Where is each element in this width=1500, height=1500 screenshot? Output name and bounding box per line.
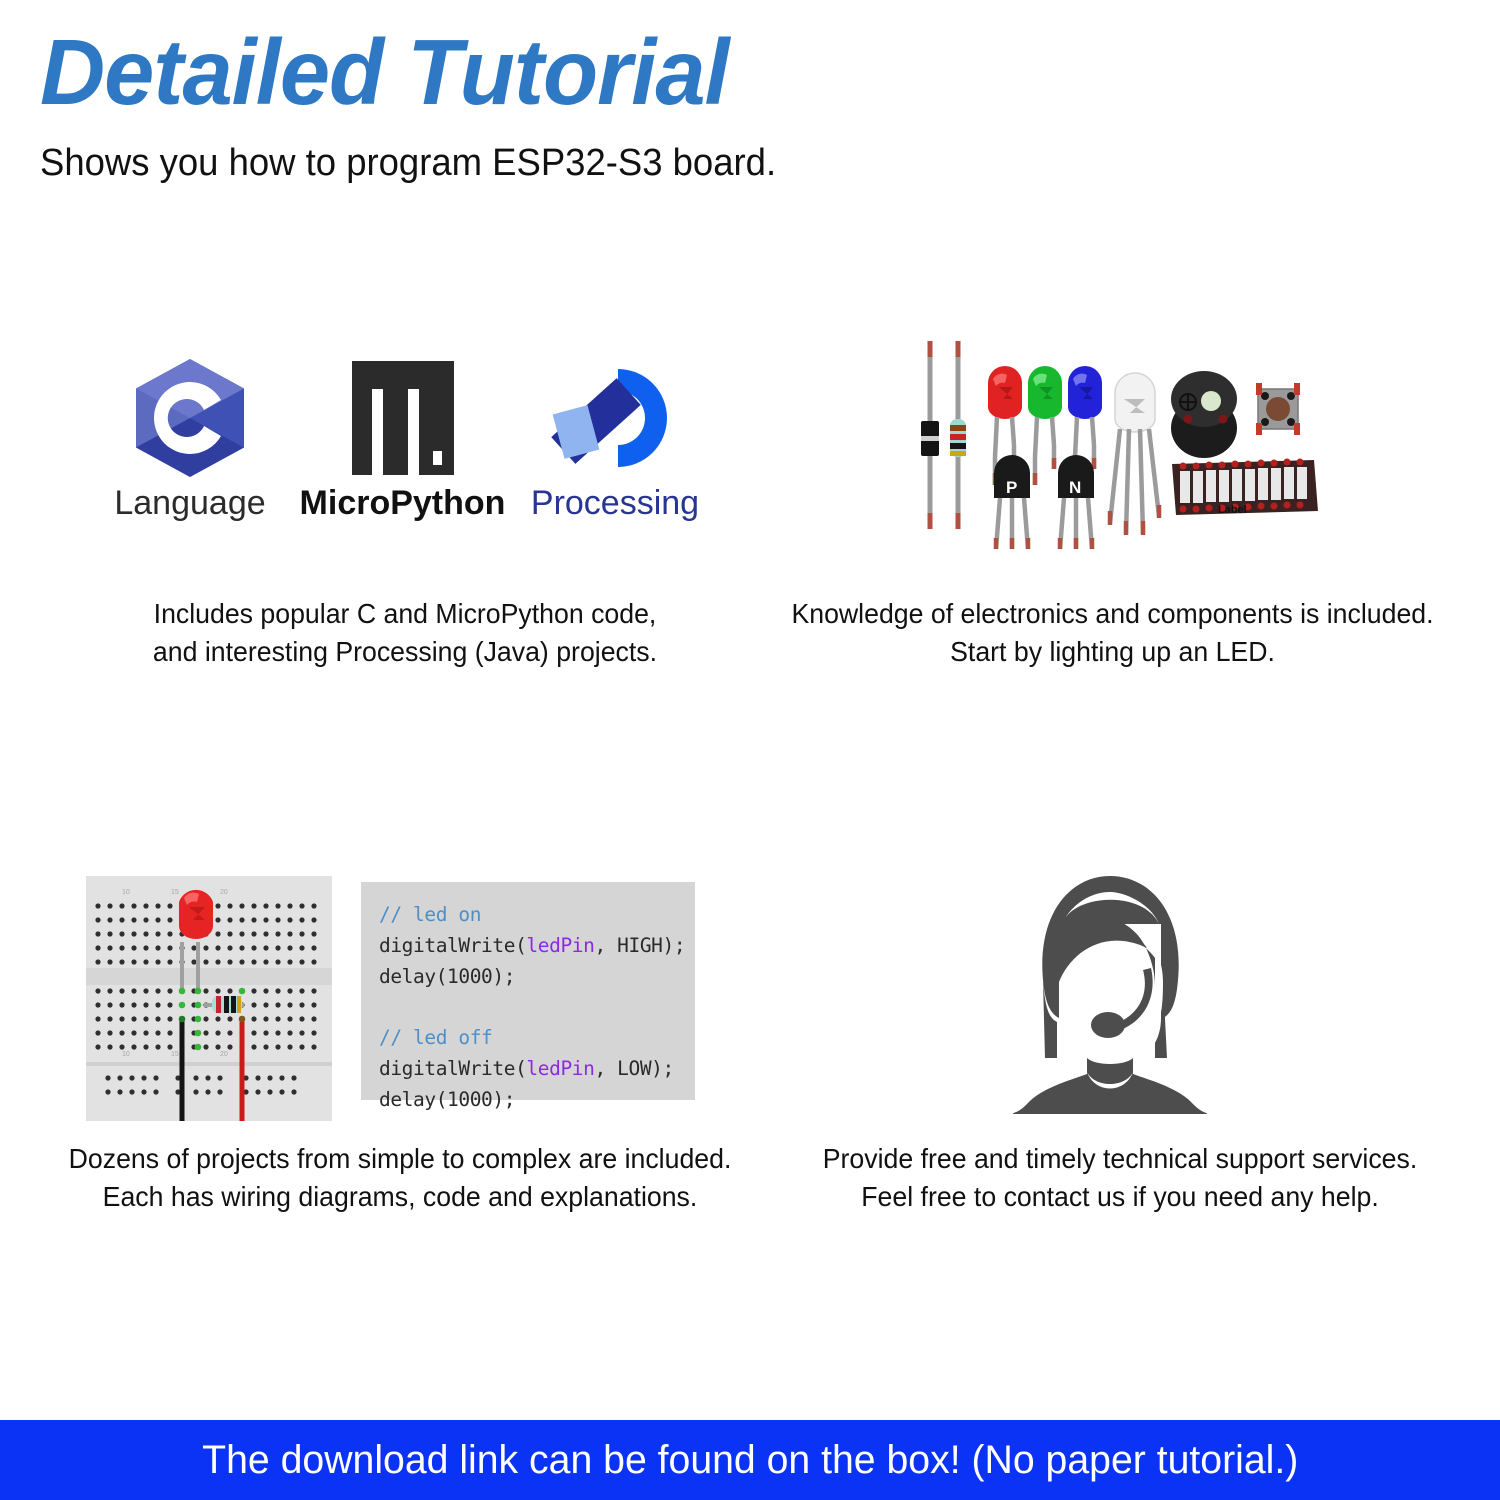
svg-text:20: 20 — [220, 1051, 228, 1058]
code-line-write-low-post: , LOW); — [594, 1057, 673, 1080]
language-item-label: MicroPython — [300, 486, 506, 520]
support-caption-line-1: Provide free and timely technical suppor… — [781, 1140, 1460, 1178]
language-item-processing: Processing — [520, 355, 710, 520]
svg-text:N: N — [1069, 478, 1081, 497]
languages-caption: Includes popular C and MicroPython code,… — [70, 595, 739, 671]
resistor-icon — [950, 341, 966, 529]
led-bar-graph-icon: Label — [1172, 459, 1318, 517]
code-line-delay-1: delay(1000); — [379, 965, 515, 988]
diode-icon — [921, 341, 939, 529]
download-banner: The download link can be found on the bo… — [0, 1420, 1500, 1500]
language-item-micropython: MicroPython — [308, 355, 498, 520]
transistor-npn-icon: N — [1058, 455, 1094, 549]
svg-text:20: 20 — [220, 889, 228, 896]
support-caption: Provide free and timely technical suppor… — [781, 1140, 1460, 1216]
support-caption-line-2: Feel free to contact us if you need any … — [781, 1178, 1460, 1216]
download-banner-text: The download link can be found on the bo… — [202, 1440, 1298, 1480]
projects-caption-line-2: Each has wiring diagrams, code and expla… — [31, 1178, 768, 1216]
led-green-icon — [1028, 366, 1062, 485]
svg-text:15: 15 — [171, 889, 179, 896]
micropython-logo-icon — [348, 355, 458, 480]
components-caption-line-1: Knowledge of electronics and components … — [766, 595, 1460, 633]
support-agent-headset-icon — [975, 862, 1245, 1117]
code-var-ledpin-high: ledPin — [526, 934, 594, 957]
c-language-logo-icon — [128, 355, 252, 480]
svg-text:10: 10 — [122, 1051, 130, 1058]
buzzer-icon — [1171, 371, 1237, 458]
languages-caption-line-1: Includes popular C and MicroPython code, — [70, 595, 739, 633]
code-line-write-low-pre: digitalWrite( — [379, 1057, 526, 1080]
svg-text:15: 15 — [171, 1051, 179, 1058]
svg-text:Label: Label — [1218, 504, 1247, 516]
code-line-write-high-pre: digitalWrite( — [379, 934, 526, 957]
svg-text:10: 10 — [122, 889, 130, 896]
code-var-ledpin-low: ledPin — [526, 1057, 594, 1080]
projects-caption-line-1: Dozens of projects from simple to comple… — [31, 1140, 768, 1178]
push-button-icon — [1256, 383, 1300, 435]
code-line-write-high-post: , HIGH); — [594, 934, 685, 957]
language-logo-row: Language MicroPython Processing — [95, 355, 710, 540]
languages-caption-line-2: and interesting Processing (Java) projec… — [70, 633, 739, 671]
rgb-led-icon — [1110, 373, 1159, 535]
components-illustration: P N — [900, 333, 1320, 555]
language-item-c: Language — [95, 355, 285, 520]
projects-caption: Dozens of projects from simple to comple… — [31, 1140, 768, 1216]
code-line-delay-2: delay(1000); — [379, 1088, 515, 1111]
processing-logo-icon — [544, 355, 686, 480]
code-comment-led-on: // led on — [379, 903, 481, 926]
components-caption-line-2: Start by lighting up an LED. — [766, 633, 1460, 671]
code-snippet-block: // led on digitalWrite(ledPin, HIGH); de… — [361, 882, 695, 1100]
code-comment-led-off: // led off — [379, 1026, 492, 1049]
page-title: Detailed Tutorial — [40, 26, 729, 119]
transistor-pnp-icon: P — [994, 455, 1030, 549]
svg-text:P: P — [1006, 478, 1017, 497]
language-item-label: Processing — [531, 486, 699, 520]
page-subtitle: Shows you how to program ESP32-S3 board. — [40, 143, 776, 185]
breadboard-illustration: 101520 101520 — [86, 876, 332, 1121]
language-item-label: Language — [114, 486, 265, 520]
components-caption: Knowledge of electronics and components … — [766, 595, 1460, 671]
